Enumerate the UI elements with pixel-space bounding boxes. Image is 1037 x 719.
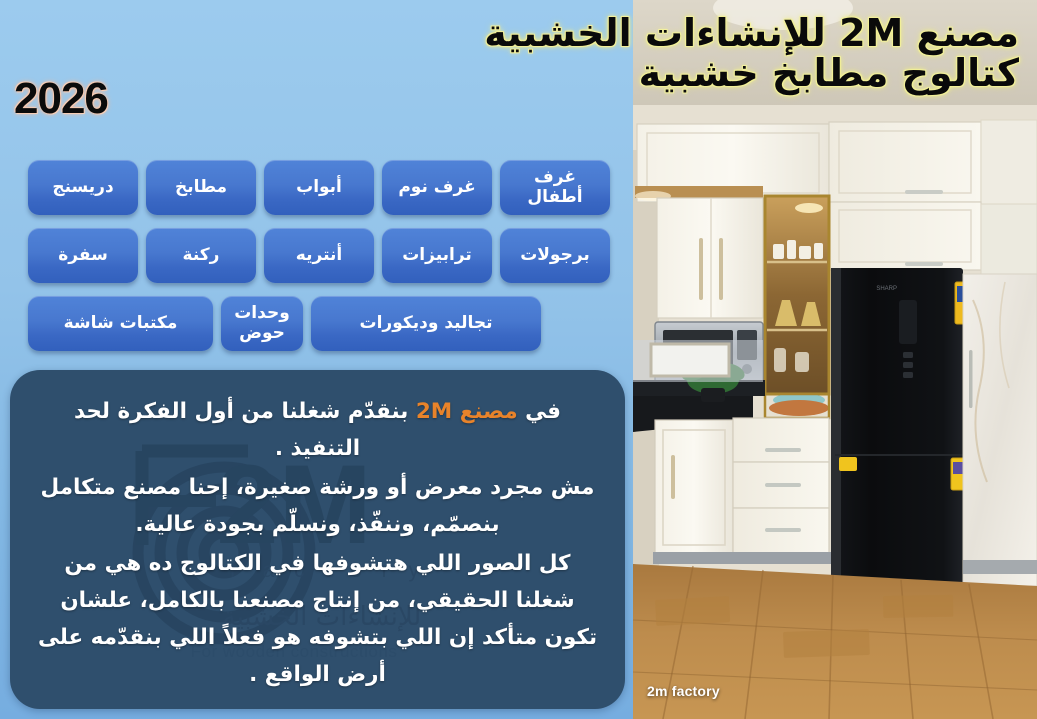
category-row: دريسنجمطابخأبوابغرف نومغرف أطفال	[28, 160, 620, 215]
about-p1-before: في	[518, 399, 561, 424]
category-button[interactable]: مكتبات شاشة	[28, 296, 213, 351]
category-menu: دريسنجمطابخأبوابغرف نومغرف أطفالسفرةركنة…	[28, 160, 620, 364]
about-text-block: في مصنع 2M بنقدّم شغلنا من أول الفكرة لح…	[10, 370, 625, 694]
poster-canvas: SHARP	[0, 0, 1037, 719]
category-button[interactable]: غرف أطفال	[500, 160, 610, 215]
category-button[interactable]: دريسنج	[28, 160, 138, 215]
category-button[interactable]: وحدات حوض	[221, 296, 303, 351]
category-button[interactable]: مطابخ	[146, 160, 256, 215]
photo-watermark-label: 2m factory	[647, 683, 720, 699]
svg-text:SHARP: SHARP	[876, 286, 897, 292]
category-button[interactable]: برجولات	[500, 228, 610, 283]
about-paragraph-3: كل الصور اللي هتشوفها في الكتالوج ده هي …	[36, 546, 599, 694]
brand-name-highlight: مصنع 2M	[416, 399, 518, 424]
about-paragraph-2: مش مجرد معرض أو ورشة صغيرة، إحنا مصنع مت…	[36, 470, 599, 544]
year-badge: 2026	[14, 74, 108, 124]
kitchen-photo: SHARP	[633, 0, 1037, 719]
about-paragraph-1: في مصنع 2M بنقدّم شغلنا من أول الفكرة لح…	[36, 394, 599, 468]
category-row: مكتبات شاشةوحدات حوضتجاليد وديكورات	[28, 296, 620, 351]
category-button[interactable]: أنتريه	[264, 228, 374, 283]
category-button[interactable]: أبواب	[264, 160, 374, 215]
headline-line-2: كتالوج مطابخ خشبية	[484, 54, 1019, 94]
category-row: سفرةركنةأنتريهترابيزاتبرجولات	[28, 228, 620, 283]
kitchen-photo-illustration: SHARP	[633, 0, 1037, 719]
headline-line-1: مصنع 2M للإنشاءات الخشبية	[484, 14, 1019, 54]
category-button[interactable]: ركنة	[146, 228, 256, 283]
category-button[interactable]: سفرة	[28, 228, 138, 283]
category-button[interactable]: غرف نوم	[382, 160, 492, 215]
category-button[interactable]: ترابيزات	[382, 228, 492, 283]
category-button[interactable]: تجاليد وديكورات	[311, 296, 541, 351]
about-panel: 2M F a c t o r y للإنشاءات الخشبية For w…	[10, 370, 625, 709]
page-title: مصنع 2M للإنشاءات الخشبية كتالوج مطابخ خ…	[484, 14, 1019, 93]
about-p1-after: بنقدّم شغلنا من أول الفكرة لحد التنفيذ .	[74, 399, 416, 461]
